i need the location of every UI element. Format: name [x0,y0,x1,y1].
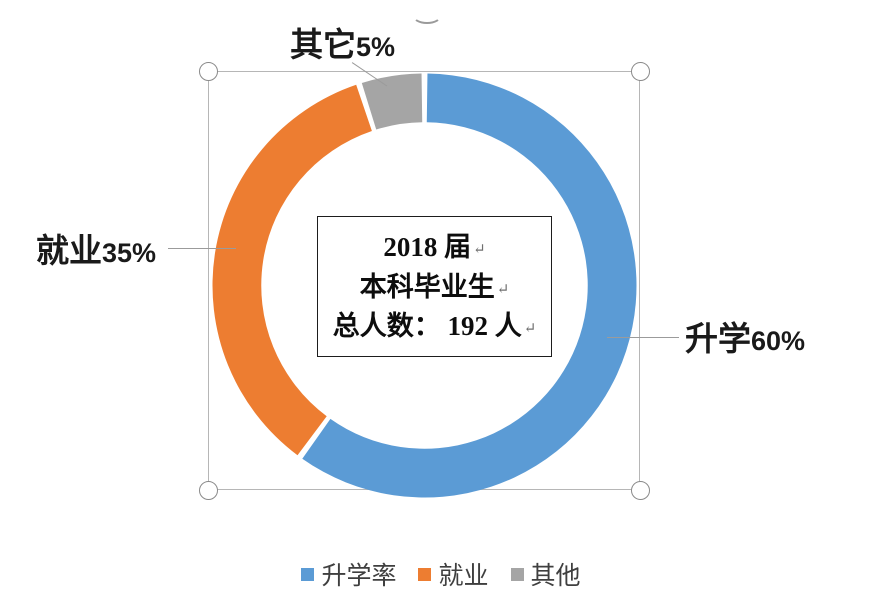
chart-legend[interactable]: 升学率就业其他 [0,556,882,592]
paragraph-mark-icon: ↵ [497,282,510,298]
legend-swatch-icon [301,568,314,581]
paragraph-mark-icon: ↵ [473,242,486,258]
donut-slice-2[interactable] [362,74,422,130]
data-label-employment-text: 就业 [36,234,102,270]
legend-swatch-icon [511,568,524,581]
center-line-2-text: 本科毕业生 [360,272,495,302]
legend-label: 升学率 [321,556,396,592]
leader-line-employment [168,248,236,249]
legend-item-0[interactable]: 升学率 [301,556,396,592]
center-line-2: 本科毕业生↵ [360,268,510,308]
data-label-other-text: 其它 [290,28,356,64]
data-label-employment[interactable]: 就业35% [36,224,156,272]
legend-item-2[interactable]: 其他 [511,556,581,592]
chart-canvas: 其它5% 就业35% 升学60% 2018 届↵ 本科毕业生↵ 总人数： 192… [0,0,882,597]
data-label-other-percent: 5% [356,32,395,62]
data-label-study-percent: 60% [751,326,805,356]
data-label-employment-percent: 35% [102,238,156,268]
legend-item-1[interactable]: 就业 [418,556,488,592]
legend-swatch-icon [418,568,431,581]
center-text-box[interactable]: 2018 届↵ 本科毕业生↵ 总人数： 192 人↵ [317,216,552,357]
leader-line-study [607,337,679,338]
data-label-other[interactable]: 其它5% [290,18,395,66]
center-line-1: 2018 届↵ [383,228,485,268]
legend-label: 就业 [438,556,488,592]
data-label-study[interactable]: 升学60% [685,312,805,360]
center-line-3: 总人数： 192 人↵ [333,307,537,347]
center-line-1-text: 2018 届 [383,232,471,262]
center-line-3-text: 总人数： 192 人 [333,311,522,341]
rotate-handle-icon[interactable] [412,6,442,24]
legend-label: 其他 [531,556,581,592]
paragraph-mark-icon: ↵ [524,321,537,337]
data-label-study-text: 升学 [685,322,751,358]
